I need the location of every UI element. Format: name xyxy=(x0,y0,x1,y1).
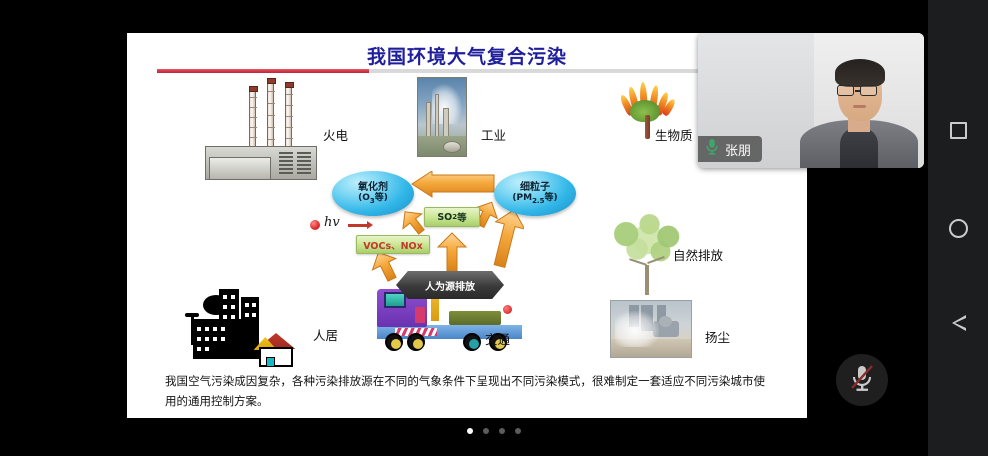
slide-caption: 我国空气污染成因复杂，各种污染排放源在不同的气象条件下呈现出不同污染模式，很难制… xyxy=(165,371,765,411)
page-dot-2[interactable] xyxy=(483,428,489,434)
app-screen: 我国环境大气复合污染 火电 工业 xyxy=(0,0,988,456)
so2-node: SO2等 xyxy=(424,207,480,227)
label-biomass: 生物质 xyxy=(655,125,693,144)
arrow-pm-to-oxidant xyxy=(410,171,496,201)
fine-particle-line2: (PM2.5等) xyxy=(512,193,557,205)
photolysis-arrow-icon xyxy=(348,224,368,227)
fugitive-dust-photo xyxy=(610,300,692,358)
oxidant-line1: 氧化剂 xyxy=(358,182,388,194)
participant-name: 张朋 xyxy=(725,140,751,159)
microphone-muted-icon xyxy=(849,363,875,398)
oxidant-node: 氧化剂 (O3等) xyxy=(332,171,414,216)
nav-back-button[interactable] xyxy=(928,300,988,346)
page-dot-1[interactable] xyxy=(467,428,473,434)
residential-city-icon xyxy=(185,289,297,367)
thermal-power-plant-icon xyxy=(205,85,317,180)
label-residential: 人居 xyxy=(313,325,338,344)
title-divider-accent xyxy=(157,69,369,73)
android-navigation-bar xyxy=(928,0,988,456)
fine-particle-node: 细粒子 (PM2.5等) xyxy=(494,171,576,216)
label-thermal-power: 火电 xyxy=(323,125,348,144)
participant-name-chip: 张朋 xyxy=(698,136,762,162)
label-industry: 工业 xyxy=(481,125,506,144)
precursors-node: VOCs、NOx xyxy=(356,235,430,254)
anthropogenic-emission-node: 人为源排放 xyxy=(396,271,504,299)
photolysis-label: hv xyxy=(324,215,340,230)
label-transport: 交通 xyxy=(485,329,510,348)
mute-microphone-button[interactable] xyxy=(836,354,888,406)
nav-home-button[interactable] xyxy=(928,205,988,251)
triangle-back-icon xyxy=(950,313,966,333)
microphone-icon xyxy=(705,138,719,160)
circle-icon xyxy=(949,219,968,238)
square-icon xyxy=(950,122,967,139)
fine-particle-line1: 细粒子 xyxy=(520,182,550,194)
sun-dot-icon xyxy=(310,220,320,230)
arrow-anthropogenic-to-so2 xyxy=(436,231,468,273)
label-natural-emission: 自然排放 xyxy=(673,245,723,264)
industry-photo xyxy=(417,77,467,157)
page-dot-4[interactable] xyxy=(515,428,521,434)
pollution-formation-diagram: 氧化剂 (O3等) 细粒子 (PM2.5等) SO2等 VOCs、NOx hv … xyxy=(332,163,582,303)
oxidant-line2: (O3等) xyxy=(358,193,388,205)
title-divider xyxy=(157,69,781,73)
page-dot-3[interactable] xyxy=(499,428,505,434)
arrow-anthropogenic-to-precursors xyxy=(370,249,400,283)
page-indicator[interactable] xyxy=(0,428,988,434)
photolysis-group: hv xyxy=(310,215,396,237)
participant-video-tile[interactable]: 张朋 xyxy=(698,33,924,168)
participant-avatar xyxy=(800,55,918,168)
label-fugitive-dust: 扬尘 xyxy=(705,327,730,346)
nav-recents-button[interactable] xyxy=(928,107,988,153)
